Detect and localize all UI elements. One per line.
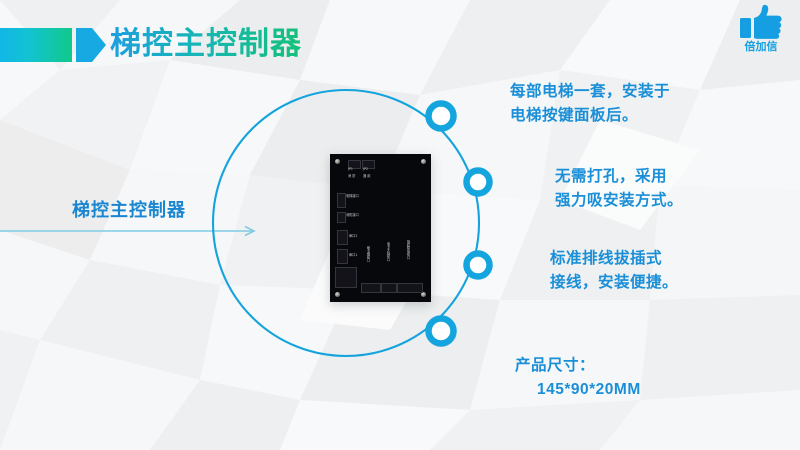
slide-canvas: 梯控主控制器 倍加信 梯控主控制器 [0, 0, 800, 450]
pcb-connector [361, 283, 381, 293]
ring-marker-1 [429, 104, 454, 129]
header-accent-bar [0, 28, 72, 62]
pcb-jumper-ref: JP1 [348, 168, 353, 172]
pcb-screw [421, 159, 426, 164]
callout-label: 梯控主控制器 [72, 196, 186, 222]
pcb-bottom-label: 指纹模块接口 [406, 240, 410, 259]
pcb-port-label: 消防接口 [346, 214, 359, 218]
pcb-screw [335, 159, 340, 164]
pcb-screw [335, 292, 340, 297]
feature-install-per-elevator: 每部电梯一套，安装于 电梯按键面板后。 [510, 80, 670, 128]
page-title: 梯控主控制器 [110, 24, 302, 64]
pcb-connector [397, 283, 423, 293]
feature-product-size: 产品尺寸： 145*90*20MM [515, 330, 641, 426]
pcb-jumper-label: 通 用 [363, 175, 370, 179]
feature-no-drilling: 无需打孔，采用 强力吸安装方式。 [555, 165, 683, 213]
header-arrow-icon [76, 28, 106, 62]
brand-logo: 倍加信 [732, 4, 790, 58]
ring-marker-4 [429, 319, 454, 344]
product-image-pcb: JP1 JP2 消 防 通 用 电梯接口 消防接口 串口2 串口1 刷卡器接口 … [330, 154, 431, 302]
pcb-bottom-label: 读卡天线接口 [386, 242, 390, 261]
thumbs-up-icon [739, 4, 783, 40]
feature-standard-cable: 标准排线拔插式 接线，安装便捷。 [550, 247, 678, 295]
pcb-connector [337, 193, 346, 208]
ring-marker-2 [467, 171, 490, 194]
ring-marker-3 [467, 254, 490, 277]
pcb-port-label: 串口2 [349, 235, 357, 239]
pcb-connector [381, 283, 397, 293]
product-size-value: 145*90*20MM [515, 378, 641, 402]
pcb-port-label: 电梯接口 [346, 195, 359, 199]
pcb-jumper-label: 消 防 [348, 175, 355, 179]
brand-logo-text: 倍加信 [732, 41, 790, 53]
pcb-power-block [335, 267, 357, 288]
pcb-connector [337, 230, 348, 245]
pcb-connector [337, 212, 346, 223]
pcb-jumper-ref: JP2 [363, 168, 368, 172]
pcb-connector [337, 249, 348, 264]
product-size-label: 产品尺寸： [515, 357, 595, 374]
pcb-bottom-label: 刷卡器接口 [366, 246, 370, 262]
pcb-port-label: 串口1 [349, 254, 357, 258]
